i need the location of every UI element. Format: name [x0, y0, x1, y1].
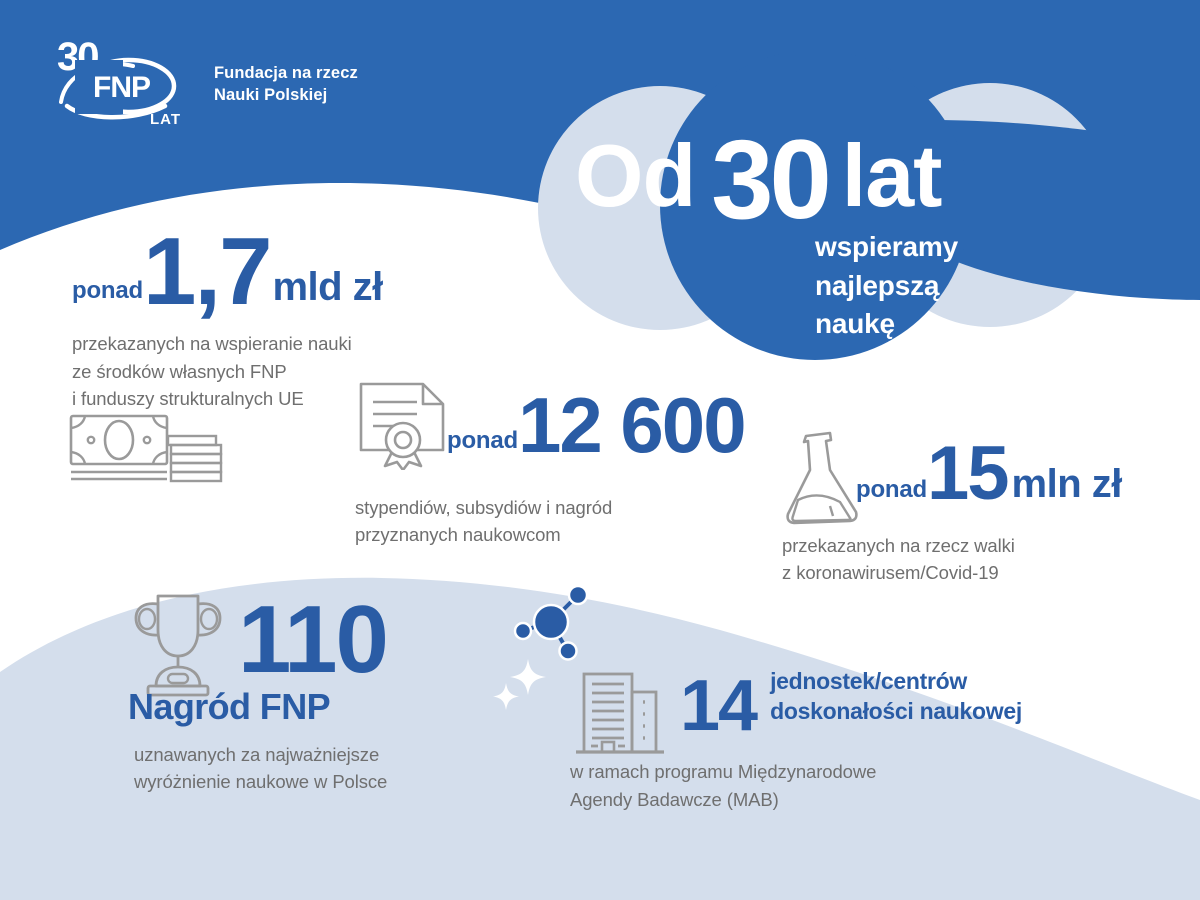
stat-units-description: w ramach programu Międzynarodowe Agendy … [570, 758, 1090, 813]
stat-awards-headline: Nagród FNP [128, 687, 468, 727]
stat-awards-desc-line1: uznawanych za najważniejsze [134, 741, 468, 768]
stat-awards-description: uznawanych za najważniejsze wyróżnienie … [134, 741, 468, 796]
stat-block-covid: ponad 15 mln zł przekazanych na rzecz wa… [782, 438, 1182, 510]
logo-lat-text: LAT [150, 111, 181, 128]
stat-covid-desc-line1: przekazanych na rzecz walki [782, 532, 1015, 559]
stat-covid-value: 15 [927, 438, 1008, 510]
sparkle-icon [490, 655, 560, 715]
org-name-line1: Fundacja na rzecz [214, 63, 358, 85]
stat-covid-description: przekazanych na rzecz walki z koronawiru… [782, 532, 1015, 587]
fnp-logo[interactable]: 30 FNP LAT Fundacja na rzecz Nauki Polsk… [55, 36, 358, 128]
stat-units-label: jednostek/centrów doskonałości naukowej [770, 666, 1022, 727]
stat-units-label-line2: doskonałości naukowej [770, 696, 1022, 726]
hero-subtitle-line1: wspieramy [815, 228, 958, 267]
org-name-line2: Nauki Polskiej [214, 85, 358, 107]
stat-money-headline: ponad 1,7 mld zł [72, 228, 412, 316]
stat-cert-prefix: ponad [447, 427, 518, 455]
stat-cert-desc-line1: stypendiów, subsydiów i nagród [355, 494, 612, 521]
hero-word-lat: lat [842, 132, 942, 220]
stat-cert-desc-line2: przyznanych naukowcom [355, 521, 612, 548]
stat-cert-value: 12 600 [518, 388, 745, 462]
stat-units-label-line1: jednostek/centrów [770, 666, 1022, 696]
hero-word-od: Od [575, 132, 695, 220]
stat-units-desc-line2: Agendy Badawcze (MAB) [570, 786, 1090, 813]
fnp-logo-svg: 30 FNP LAT [55, 36, 200, 128]
logo-fnp-text: FNP [93, 71, 150, 104]
fnp-logo-mark: 30 FNP LAT [55, 36, 200, 128]
stat-covid-headline: ponad 15 mln zł [782, 438, 1182, 510]
stat-money-value: 1,7 [143, 228, 270, 316]
stat-awards-desc-line2: wyróżnienie naukowe w Polsce [134, 768, 468, 795]
stat-cert-description: stypendiów, subsydiów i nagród przyznany… [355, 494, 612, 549]
hero-subtitle: wspieramy najlepszą naukę [815, 228, 958, 344]
stat-awards-value: 110 [238, 594, 468, 685]
stat-block-units: 14 jednostek/centrów doskonałości naukow… [570, 672, 1090, 813]
stat-money-desc-line1: przekazanych na wspieranie nauki [72, 330, 412, 357]
hero-word-30: 30 [711, 124, 828, 236]
stat-block-awards: 110 Nagród FNP uznawanych za najważniejs… [128, 594, 468, 796]
stat-cert-headline: ponad 12 600 [355, 388, 775, 462]
hero-subtitle-line3: naukę [815, 305, 958, 344]
stat-block-certificates: ponad 12 600 stypendiów, subsydiów i nag… [355, 388, 775, 462]
stat-units-headline: 14 jednostek/centrów doskonałości naukow… [570, 672, 1090, 740]
banknote-coins-icon [68, 412, 228, 484]
org-name: Fundacja na rzecz Nauki Polskiej [214, 57, 358, 107]
stat-units-desc-line1: w ramach programu Międzynarodowe [570, 758, 1090, 785]
stat-money-unit: mld zł [272, 265, 382, 310]
stat-covid-prefix: ponad [856, 476, 927, 504]
hero-headline: Od 30 lat [575, 118, 1055, 233]
hero-subtitle-line2: najlepszą [815, 267, 958, 306]
stat-units-value: 14 [680, 672, 756, 740]
stat-money-prefix: ponad [72, 277, 143, 305]
infographic-canvas: 30 FNP LAT Fundacja na rzecz Nauki Polsk… [0, 0, 1200, 900]
stat-covid-unit: mln zł [1012, 462, 1122, 507]
stat-covid-desc-line2: z koronawirusem/Covid-19 [782, 559, 1015, 586]
